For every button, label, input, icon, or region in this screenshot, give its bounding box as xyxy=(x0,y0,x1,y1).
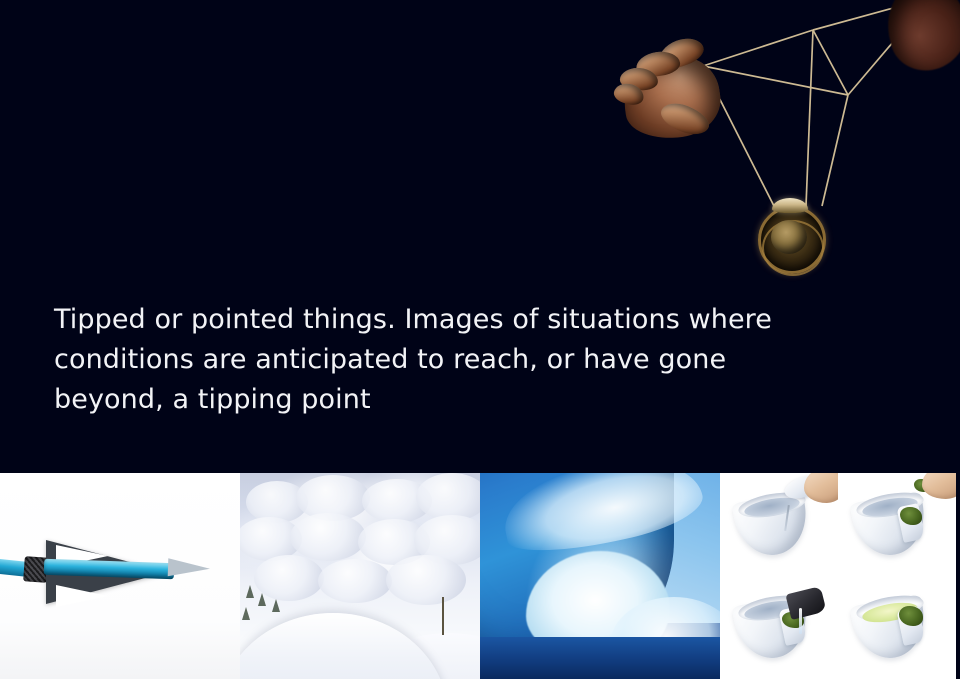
teacup-step-leaves xyxy=(838,473,956,576)
tea-leaves xyxy=(899,606,923,626)
tree xyxy=(246,585,254,598)
arrow-blade-cutout-bottom xyxy=(56,585,108,607)
tipping-teacup-image xyxy=(720,473,956,679)
teacup-step-brewed xyxy=(838,576,956,679)
teacup xyxy=(736,497,808,559)
teacup xyxy=(854,600,926,662)
bob-cap xyxy=(772,198,808,213)
hand xyxy=(922,473,956,499)
pendulum-photo xyxy=(600,0,960,290)
tree xyxy=(242,607,250,620)
snow-puff xyxy=(318,559,392,603)
snow-ridge-foreground xyxy=(240,613,448,679)
breaking-wave-image xyxy=(480,473,720,679)
pendulum-bob xyxy=(752,196,828,276)
arrow-point-tip xyxy=(168,558,211,577)
sea-surface xyxy=(480,637,720,679)
snow-puff xyxy=(290,513,366,561)
water-stream xyxy=(799,608,802,634)
hand xyxy=(804,473,838,503)
presentation-slide: Tipped or pointed things. Images of situ… xyxy=(0,0,960,679)
slide-caption: Tipped or pointed things. Images of situ… xyxy=(54,300,814,420)
broadhead-arrow-image xyxy=(0,473,240,679)
filmstrip-item-broadhead-arrow xyxy=(0,473,240,679)
teacup xyxy=(854,497,926,559)
tree xyxy=(272,599,280,612)
snow-puff xyxy=(416,473,480,521)
tea-leaves xyxy=(900,507,922,525)
snow-puff xyxy=(386,555,466,605)
teacup-step-empty xyxy=(720,473,838,576)
filmstrip-item-breaking-wave xyxy=(480,473,720,679)
filmstrip-item-tipping-teacup xyxy=(720,473,956,679)
tree xyxy=(258,593,266,606)
marker-pole xyxy=(442,597,444,635)
avalanche-image xyxy=(240,473,480,679)
hand xyxy=(606,22,738,144)
bob-core xyxy=(771,220,807,254)
kettle xyxy=(785,586,826,620)
hero-area: Tipped or pointed things. Images of situ… xyxy=(0,0,960,473)
filmstrip-item-avalanche xyxy=(240,473,480,679)
image-filmstrip xyxy=(0,473,960,679)
teacup-step-pour xyxy=(720,576,838,679)
filmstrip-right-edge xyxy=(956,473,960,679)
